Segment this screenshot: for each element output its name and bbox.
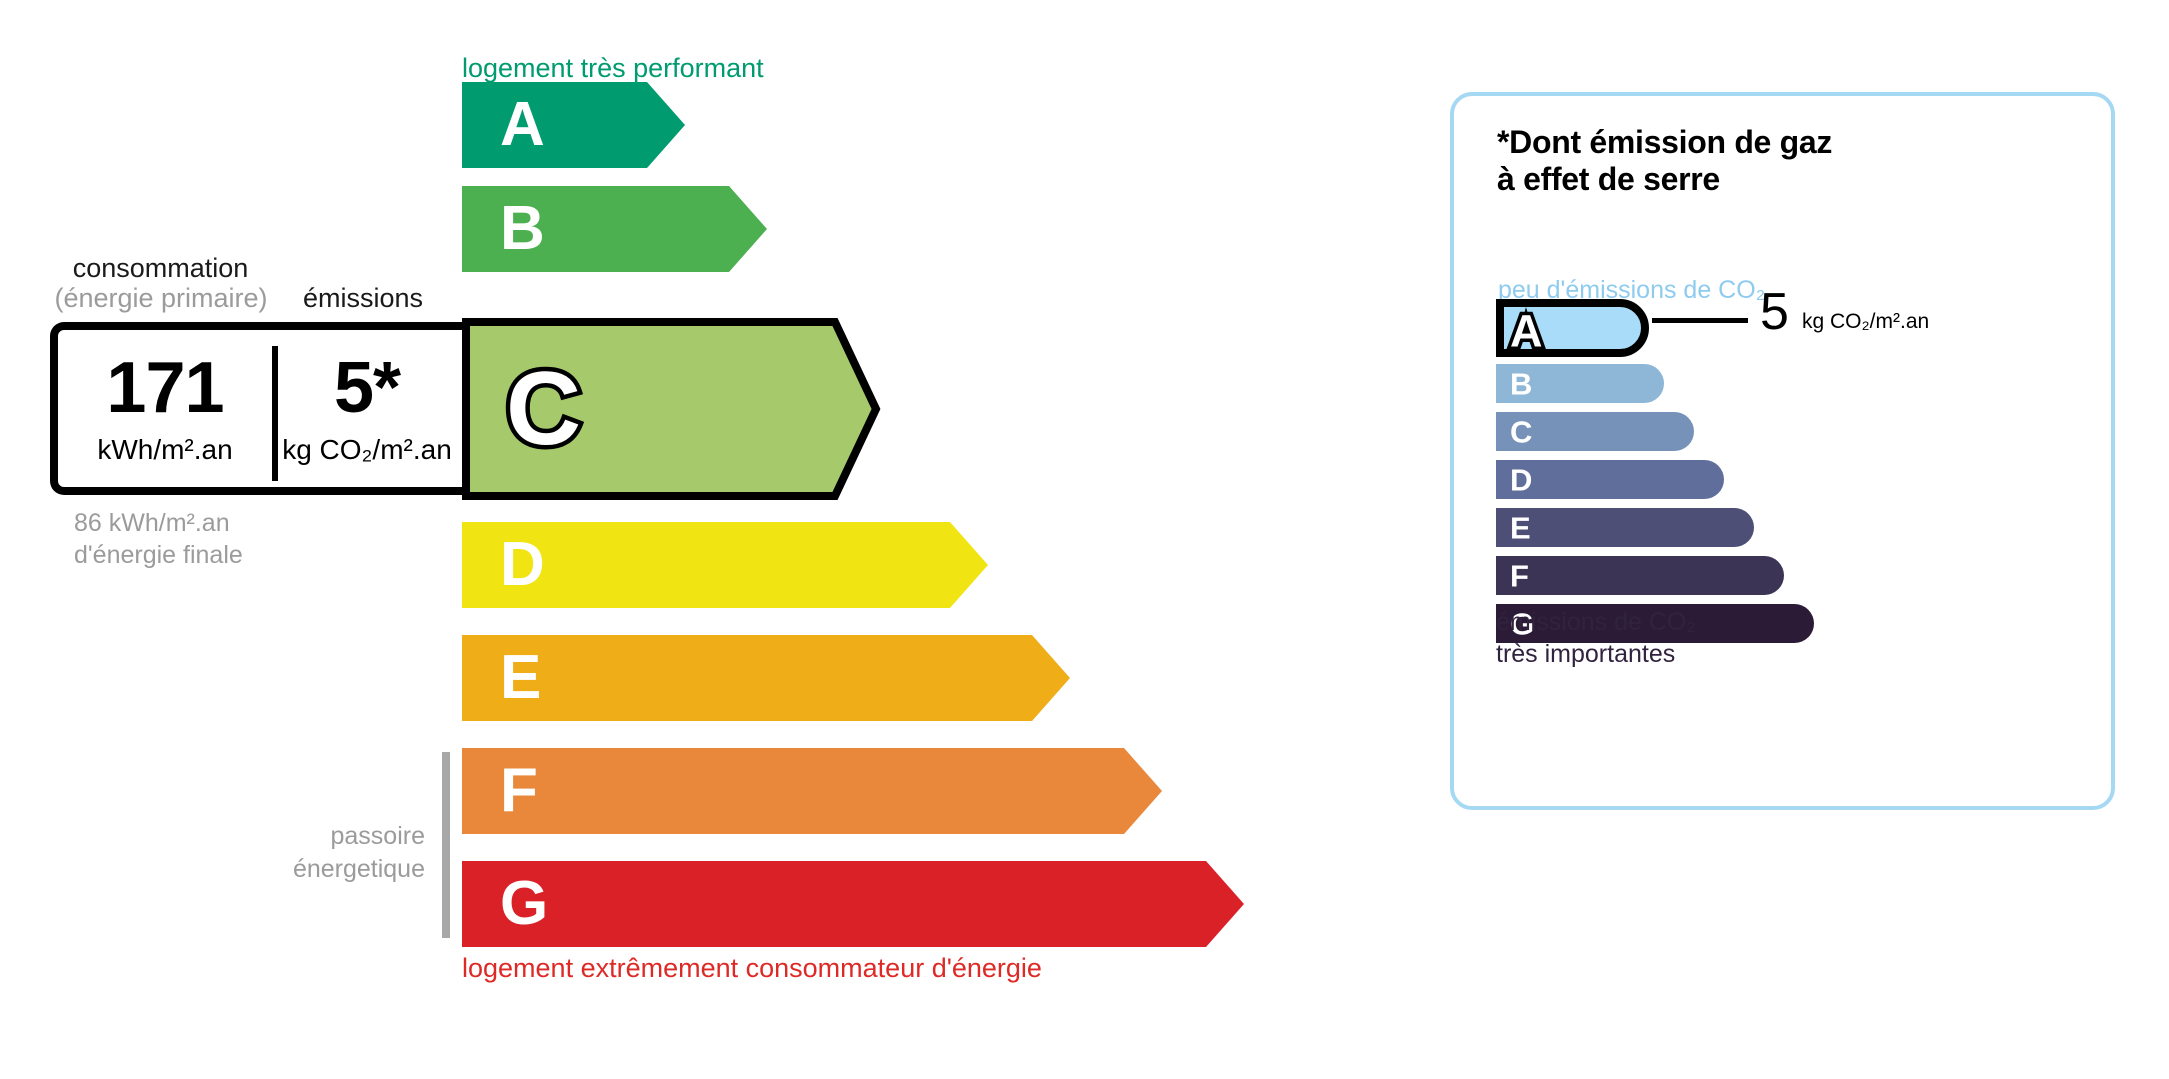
- energy-top-caption: logement très performant: [462, 53, 764, 84]
- passoire-indicator-bar: [442, 752, 450, 938]
- co2-bar-B-shape: B: [1496, 364, 1664, 403]
- co2-bar-D[interactable]: D: [1496, 460, 1724, 499]
- energy-band-A-letter: A: [500, 94, 545, 156]
- energy-band-F[interactable]: F: [462, 748, 1162, 834]
- energy-band-G[interactable]: G: [462, 861, 1244, 947]
- co2-panel-title: *Dont émission de gaz à effet de serre: [1497, 124, 1832, 198]
- dpe-diagram: logement très performant A B C: [0, 0, 2169, 1079]
- energy-band-E-letter: E: [500, 647, 541, 709]
- co2-bar-B-letter: B: [1510, 368, 1532, 399]
- co2-bar-C-shape: C: [1496, 412, 1694, 451]
- co2-bar-F-letter: F: [1510, 560, 1529, 591]
- co2-bar-B[interactable]: B: [1496, 364, 1664, 403]
- energy-band-F-shape: [462, 748, 1162, 834]
- consumption-unit: kWh/m².an: [97, 434, 232, 466]
- co2-bar-A[interactable]: A: [1496, 299, 1656, 362]
- energy-band-B-letter: B: [500, 198, 545, 260]
- emission-value: 5*: [334, 352, 400, 424]
- energy-band-F-letter: F: [500, 760, 538, 822]
- co2-measured-unit: kg CO₂/m².an: [1802, 310, 1929, 334]
- energy-band-G-letter: G: [500, 873, 548, 935]
- energy-band-A[interactable]: A: [462, 82, 685, 168]
- primary-energy-header-label: (énergie primaire): [50, 283, 272, 314]
- co2-bar-D-letter: D: [1510, 464, 1532, 495]
- co2-bar-A-letter: A: [1510, 308, 1543, 353]
- energy-band-E-shape: [462, 635, 1070, 721]
- measured-values-box: 171 kWh/m².an 5* kg CO₂/m².an: [50, 322, 462, 495]
- co2-bottom-caption: émissions de CO₂ très importantes: [1496, 606, 1696, 670]
- emission-unit: kg CO₂/m².an: [282, 434, 452, 466]
- energy-band-C-letter: C: [506, 357, 581, 461]
- consumption-header-label: consommation: [68, 253, 253, 284]
- energy-band-D-letter: D: [500, 534, 545, 596]
- energy-band-A-shape: [462, 82, 685, 168]
- co2-bar-E-letter: E: [1510, 512, 1531, 543]
- energy-consumption-chart: logement très performant A B C: [0, 0, 1340, 1079]
- co2-bar-C-letter: C: [1510, 416, 1532, 447]
- final-energy-note: 86 kWh/m².an d'énergie finale: [74, 507, 243, 571]
- energy-band-G-shape: [462, 861, 1244, 947]
- co2-leader-line: [1652, 318, 1748, 323]
- co2-emissions-panel: *Dont émission de gaz à effet de serre p…: [1450, 92, 2115, 810]
- co2-bar-E-shape: E: [1496, 508, 1754, 547]
- co2-bar-D-shape: D: [1496, 460, 1724, 499]
- co2-bar-F[interactable]: F: [1496, 556, 1784, 595]
- energy-bottom-caption: logement extrêmement consommateur d'éner…: [462, 953, 1042, 984]
- energy-band-D[interactable]: D: [462, 522, 988, 608]
- passoire-label: passoire énergetique: [240, 820, 425, 885]
- consumption-value: 171: [106, 352, 223, 424]
- co2-measured-value: 5: [1760, 286, 1789, 338]
- co2-bar-C[interactable]: C: [1496, 412, 1694, 451]
- co2-bar-F-shape: F: [1496, 556, 1784, 595]
- energy-band-C[interactable]: C: [462, 318, 882, 500]
- consumption-value-cell: 171 kWh/m².an: [58, 330, 272, 487]
- emissions-header-label: émissions: [298, 283, 428, 314]
- co2-bar-E[interactable]: E: [1496, 508, 1754, 547]
- energy-band-B[interactable]: B: [462, 186, 767, 272]
- energy-band-E[interactable]: E: [462, 635, 1070, 721]
- emission-value-cell: 5* kg CO₂/m².an: [272, 330, 462, 487]
